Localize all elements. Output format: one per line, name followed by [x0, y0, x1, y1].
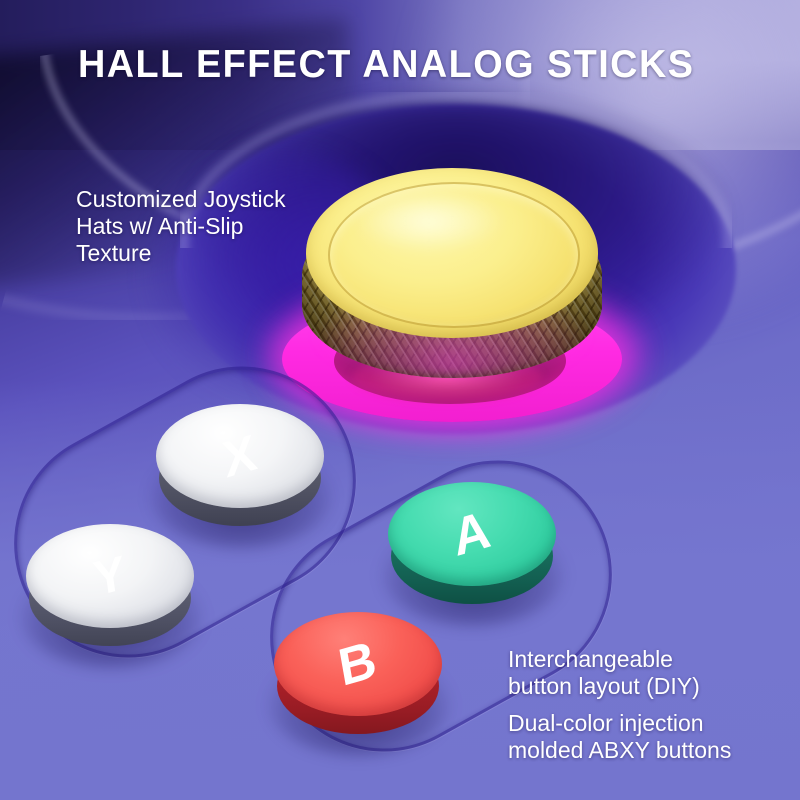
joystick-cap[interactable] — [302, 168, 602, 380]
button-a[interactable]: A — [388, 482, 556, 606]
button-y[interactable]: Y — [26, 524, 194, 648]
button-b[interactable]: B — [274, 612, 442, 736]
product-marketing-image: X Y A B HALL EFFECT ANALOG STICKS Custom… — [0, 0, 800, 800]
page-title: HALL EFFECT ANALOG STICKS — [78, 43, 694, 87]
joystick-top-specular — [354, 190, 504, 252]
callout-interchangeable-layout: Interchangeable button layout (DIY) — [508, 646, 700, 700]
callout-dual-color-molded: Dual-color injection molded ABXY buttons — [508, 710, 731, 764]
callout-joystick-hats: Customized Joystick Hats w/ Anti-Slip Te… — [76, 186, 286, 267]
